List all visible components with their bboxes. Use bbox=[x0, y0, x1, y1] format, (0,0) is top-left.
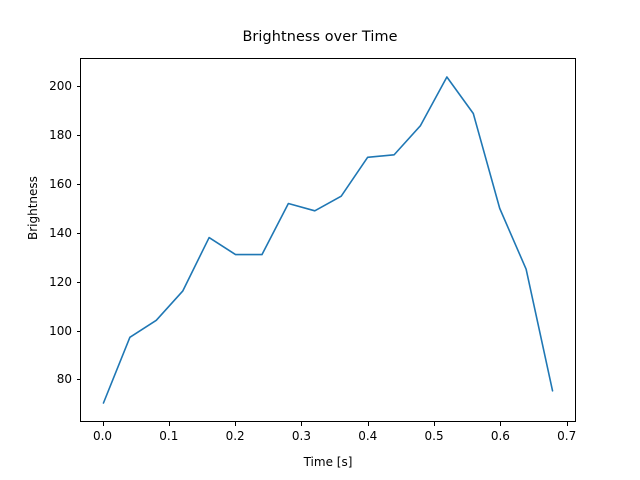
plot-axes bbox=[80, 58, 576, 422]
x-tick-label: 0.3 bbox=[292, 429, 311, 443]
x-tick-label: 0.5 bbox=[425, 429, 444, 443]
brightness-line-series bbox=[103, 77, 552, 403]
y-tick-label: 140 bbox=[28, 226, 72, 240]
x-tick-mark bbox=[434, 422, 435, 426]
plot-area bbox=[81, 59, 575, 421]
x-tick-mark bbox=[368, 422, 369, 426]
x-tick-mark bbox=[103, 422, 104, 426]
x-tick-label: 0.6 bbox=[491, 429, 510, 443]
y-tick-label: 100 bbox=[28, 324, 72, 338]
figure-canvas: Brightness over Time Brightness Time [s]… bbox=[0, 0, 640, 480]
x-axis-label: Time [s] bbox=[80, 455, 576, 469]
x-tick-label: 0.7 bbox=[557, 429, 576, 443]
x-tick-mark bbox=[235, 422, 236, 426]
y-tick-label: 180 bbox=[28, 128, 72, 142]
x-tick-label: 0.4 bbox=[358, 429, 377, 443]
y-tick-label: 80 bbox=[28, 372, 72, 386]
y-tick-label: 200 bbox=[28, 79, 72, 93]
x-tick-label: 0.0 bbox=[93, 429, 112, 443]
x-tick-mark bbox=[500, 422, 501, 426]
y-tick-label: 160 bbox=[28, 177, 72, 191]
x-tick-mark bbox=[301, 422, 302, 426]
x-tick-label: 0.2 bbox=[226, 429, 245, 443]
x-tick-mark bbox=[567, 422, 568, 426]
chart-title: Brightness over Time bbox=[0, 28, 640, 46]
y-tick-label: 120 bbox=[28, 275, 72, 289]
x-tick-mark bbox=[169, 422, 170, 426]
x-tick-label: 0.1 bbox=[159, 429, 178, 443]
